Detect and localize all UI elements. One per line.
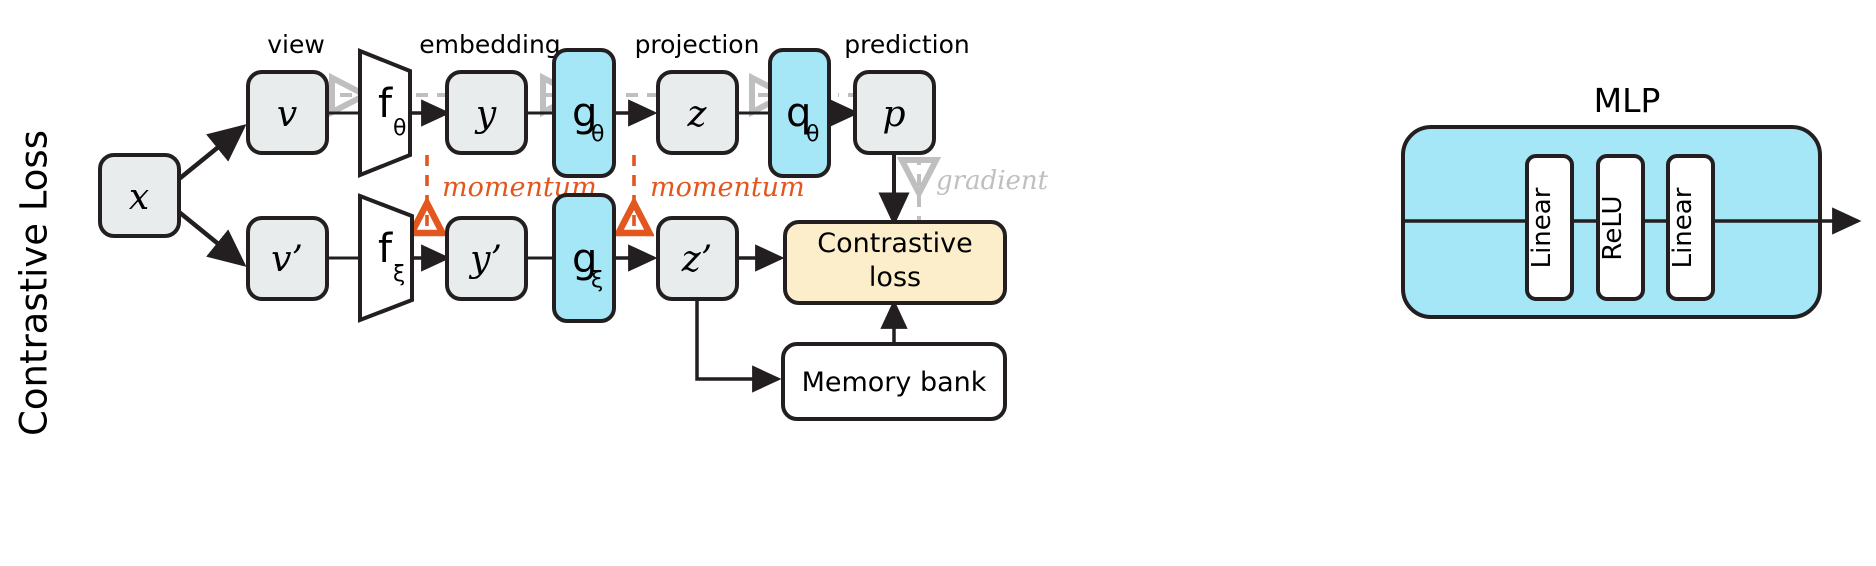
predictor-group: q θ <box>770 50 829 176</box>
caption-prediction: prediction <box>844 30 969 59</box>
memory-bank-label: Memory bank <box>802 367 987 398</box>
node-embedding-online-label: y <box>474 94 497 135</box>
gradient-label: gradient <box>936 166 1049 196</box>
mlp-layer-linear-1-label: Linear <box>1527 187 1557 268</box>
node-input-group: x <box>100 155 179 236</box>
node-view-online-label: v <box>277 94 297 135</box>
mlp-layer-relu-label: ReLU <box>1598 195 1628 260</box>
encoder-target-subscript: ξ <box>393 262 405 287</box>
mlp-layer-relu[interactable]: ReLU <box>1598 156 1643 299</box>
figure-canvas: Contrastive Loss view embedding projecti… <box>0 0 1876 566</box>
mlp-title: MLP <box>1594 81 1661 120</box>
encoder-target-group: f ξ <box>360 196 412 320</box>
projector-online-group: g θ <box>554 50 614 176</box>
node-embedding-online-group: y <box>447 72 526 153</box>
node-projection-online-group: z <box>658 72 737 153</box>
edge-zprime-to-memorybank <box>697 292 778 379</box>
mlp-layer-linear-2-label: Linear <box>1668 187 1698 268</box>
caption-embedding: embedding <box>419 30 560 59</box>
contrastive-loss-line2: loss <box>869 262 921 293</box>
edge-x-to-v <box>179 127 243 179</box>
node-prediction-label: p <box>882 94 905 135</box>
node-projection-online-label: z <box>687 94 708 135</box>
mlp-layer-linear-2[interactable]: Linear <box>1668 156 1713 299</box>
node-view-target-group: v’ <box>248 218 327 299</box>
mlp-legend-group: MLP Linear ReLU Linear <box>1403 81 1858 317</box>
projector-online-subscript: θ <box>591 122 604 147</box>
side-label: Contrastive Loss <box>13 130 56 436</box>
node-view-target-label: v’ <box>271 239 303 280</box>
projector-target-group: g ξ <box>554 195 614 321</box>
contrastive-loss-line1: Contrastive <box>817 228 972 259</box>
encoder-target-label: f <box>378 226 393 272</box>
memory-bank-group: Memory bank <box>783 344 1005 419</box>
node-prediction-group: p <box>855 72 934 153</box>
caption-projection: projection <box>635 30 760 59</box>
caption-view: view <box>267 30 325 59</box>
contrastive-loss-group: Contrastive loss <box>785 222 1005 303</box>
node-embedding-target-label: y’ <box>468 239 502 280</box>
node-view-online-group: v <box>248 72 327 153</box>
diagram-svg: Contrastive Loss view embedding projecti… <box>0 0 1876 566</box>
encoder-online-label: f <box>378 81 393 127</box>
mlp-layer-linear-1[interactable]: Linear <box>1527 156 1572 299</box>
predictor-subscript: θ <box>806 122 819 147</box>
encoder-online-subscript: θ <box>393 116 406 141</box>
node-input-label: x <box>129 177 149 218</box>
projector-target-subscript: ξ <box>591 268 603 293</box>
encoder-online-group: f θ <box>360 51 410 175</box>
node-embedding-target-group: y’ <box>447 218 526 299</box>
side-label-group: Contrastive Loss <box>13 130 56 436</box>
node-projection-target-group: z’ <box>658 218 737 299</box>
edge-x-to-vprime <box>179 212 243 264</box>
node-projection-target-label: z’ <box>681 239 712 280</box>
